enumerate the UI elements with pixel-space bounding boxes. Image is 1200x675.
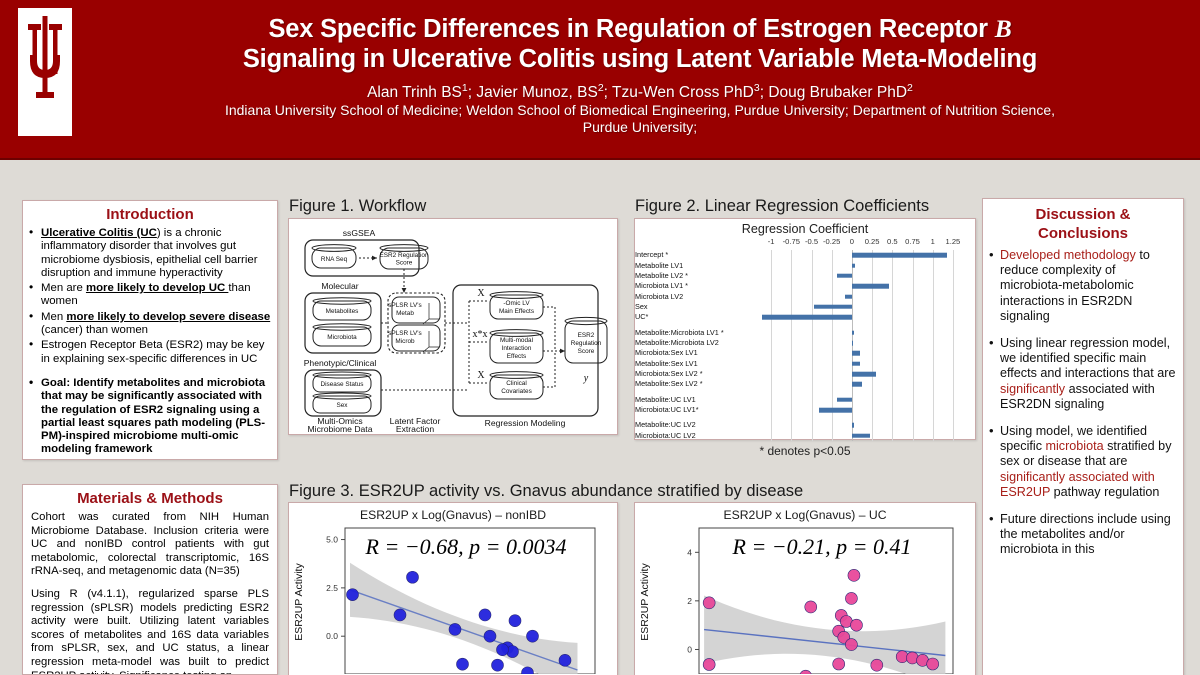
figure2-plot-area: Intercept *Metabolite LV1Metabolite LV2 …	[635, 250, 975, 441]
figure2-bar-row: Metabolite:UC LV1	[635, 394, 975, 404]
figure2-bar-label: Metabolite:Microbiota LV2	[635, 339, 719, 347]
figure2-bar	[837, 274, 852, 279]
figure2-bar-row: Metabolite:Microbiota LV1 *	[635, 327, 975, 337]
scatter-ytick: 0.0	[326, 631, 338, 641]
scatter-point	[407, 571, 419, 583]
svg-text:Covariates: Covariates	[501, 388, 532, 395]
scatter-point	[833, 658, 845, 670]
figure2-bar	[845, 294, 851, 299]
svg-text:Score: Score	[396, 260, 413, 267]
intro-spacer	[39, 368, 271, 375]
scatter-ylabel: ESR2UP Activity	[293, 563, 305, 641]
label-y: y	[583, 373, 589, 384]
introduction-panel: Introduction Ulcerative Colitis (UC) is …	[22, 200, 278, 460]
svg-text:sPLSR LV's: sPLSR LV's	[388, 330, 421, 337]
scatter-point	[703, 597, 715, 609]
svg-text:Multi-modal: Multi-modal	[500, 337, 533, 344]
svg-text:Metabolites: Metabolites	[326, 308, 359, 315]
figure2-bar-label: Intercept *	[635, 251, 668, 259]
figure2-bar-row: Metabolite:Sex LV1	[635, 358, 975, 368]
figure2-bar-label: Metabolite LV2 *	[635, 272, 688, 280]
scatter-ytick: 2	[687, 596, 692, 606]
scatter-plot-uc: ESR2UP Activity420R = −0.21, p = 0.41	[635, 522, 969, 674]
svg-text:Microb: Microb	[395, 338, 415, 345]
figure2-bar-label: Metabolite:Sex LV2 *	[635, 380, 703, 388]
discussion-text-segment: significantly	[1000, 382, 1065, 396]
figure2-bar	[814, 305, 852, 310]
figure2-xtick: -1	[768, 237, 775, 246]
figure2-bar-label: Metabolite:UC LV1	[635, 396, 696, 404]
scatter-title-nonibd: ESR2UP x Log(Gnavus) – nonIBD	[289, 508, 617, 522]
affiliation-line1: Indiana University School of Medicine; W…	[90, 102, 1190, 119]
discussion-text-segment: Future directions include using the meta…	[1000, 512, 1171, 556]
figure2-xtick: -0.25	[823, 237, 840, 246]
scatter-wrap-uc: ESR2UP Activity420R = −0.21, p = 0.41	[635, 522, 975, 675]
figure3-panel-uc: ESR2UP x Log(Gnavus) – UC ESR2UP Activit…	[634, 502, 976, 675]
scatter-point	[347, 589, 359, 601]
scatter-annotation: R = −0.68, p = 0.0034	[365, 534, 567, 559]
svg-text:Microbiota: Microbiota	[327, 334, 357, 341]
scatter-plot-nonibd: ESR2UP Activity5.02.50.0-2.5R = −0.68, p…	[289, 522, 611, 674]
scatter-ytick: 2.5	[326, 583, 338, 593]
figure3-caption: Figure 3. ESR2UP activity vs. Gnavus abu…	[289, 482, 803, 501]
affiliation-line2: Purdue University;	[90, 119, 1190, 136]
figure2-bar	[852, 330, 854, 335]
scatter-point	[871, 659, 883, 671]
scatter-point	[449, 623, 461, 635]
figure2-bar-row: Microbiota:UC LV1*	[635, 405, 975, 415]
figure2-x-axis: -1-0.75-0.5-0.2500.250.50.7511.25	[635, 237, 975, 250]
scatter-point	[845, 639, 857, 651]
svg-text:Extraction: Extraction	[396, 424, 434, 432]
figure2-bar-row: Microbiota:Sex LV1	[635, 348, 975, 358]
scatter-point	[527, 630, 539, 642]
poster-header: Sex Specific Differences in Regulation o…	[0, 0, 1200, 160]
figure2-panel: Regression Coefficient -1-0.75-0.5-0.250…	[634, 218, 976, 440]
scatter-point	[457, 658, 469, 670]
svg-text:Metab: Metab	[396, 310, 414, 317]
scatter-point	[559, 654, 571, 666]
scatter-point	[848, 569, 860, 581]
scatter-title-uc: ESR2UP x Log(Gnavus) – UC	[635, 508, 975, 522]
figure2-xtick: 0.75	[905, 237, 920, 246]
figure2-bar-label: Microbiota:UC LV1*	[635, 406, 699, 414]
intro-bullet-2: Men are more likely to develop UC than w…	[39, 282, 271, 309]
poster-title-line1: Sex Specific Differences in Regulation o…	[90, 14, 1190, 44]
scatter-point	[509, 615, 521, 627]
figure2-bar-label: Microbiota:Sex LV2 *	[635, 370, 703, 378]
trident-icon	[24, 8, 66, 114]
figure2-bar	[852, 361, 860, 366]
figure2-bar-label: Microbiota LV1 *	[635, 282, 688, 290]
discussion-bullet: Using linear regression model, we identi…	[1000, 336, 1177, 412]
discussion-heading-line2: Conclusions	[983, 225, 1183, 243]
svg-text:Regulation: Regulation	[571, 340, 602, 347]
figure2-significance-note: * denotes p<0.05	[635, 444, 975, 458]
discussion-bullet-list: Developed methodology to reduce complexi…	[983, 246, 1183, 558]
introduction-bullet-list: Ulcerative Colitis (UC) is a chronic inf…	[23, 227, 277, 457]
figure2-bar-label: Metabolite:Microbiota LV1 *	[635, 329, 724, 337]
scatter-wrap-nonibd: ESR2UP Activity5.02.50.0-2.5R = −0.68, p…	[289, 522, 617, 675]
workflow-diagram: ssGSEA RNA Seq ESR2 Regulation Score Mol…	[293, 223, 615, 432]
figure1-caption: Figure 1. Workflow	[289, 197, 426, 216]
figure2-bar-row: Microbiota LV1 *	[635, 281, 975, 291]
figure2-bar-row: Metabolite:Sex LV2 *	[635, 379, 975, 389]
label-ssgsea: ssGSEA	[343, 228, 376, 238]
scatter-point	[805, 601, 817, 613]
intro-bullet-4: Estrogen Receptor Beta (ESR2) may be key…	[39, 339, 271, 366]
scatter-point	[703, 658, 715, 670]
figure2-bar-row: UC*	[635, 312, 975, 322]
footer-regression: Regression Modeling	[485, 418, 566, 428]
discussion-bullet: Future directions include using the meta…	[1000, 512, 1177, 558]
iu-logo	[18, 8, 72, 136]
svg-text:Interaction: Interaction	[502, 345, 532, 352]
label-molecular: Molecular	[321, 281, 358, 291]
introduction-heading: Introduction	[23, 206, 277, 224]
figure2-bar	[852, 284, 889, 289]
label-x-interaction: x*x	[473, 329, 488, 340]
scatter-point	[850, 619, 862, 631]
svg-text:RNA Seq: RNA Seq	[321, 256, 348, 263]
intro-bullet-goal: Goal: Identify metabolites and microbiot…	[39, 377, 271, 457]
figure2-xtick: 1	[931, 237, 935, 246]
figure2-bar-row: Microbiota LV2	[635, 291, 975, 301]
figure2-bar-label: Metabolite LV1	[635, 262, 683, 270]
figure2-xtick: -0.5	[805, 237, 818, 246]
scatter-ytick: 5.0	[326, 535, 338, 545]
figure2-bar	[852, 372, 876, 377]
figure3-panel-nonibd: ESR2UP x Log(Gnavus) – nonIBD ESR2UP Act…	[288, 502, 618, 675]
discussion-text-segment: pathway regulation	[1050, 485, 1159, 499]
poster-root: Sex Specific Differences in Regulation o…	[0, 0, 1200, 675]
figure1-panel: ssGSEA RNA Seq ESR2 Regulation Score Mol…	[288, 218, 618, 435]
figure2-bar-row: Metabolite:UC LV2	[635, 420, 975, 430]
label-x-main: X	[477, 288, 485, 299]
discussion-text-segment: microbiota	[1046, 439, 1104, 453]
scatter-ylabel: ESR2UP Activity	[639, 563, 651, 641]
scatter-point	[497, 644, 509, 656]
figure2-bar-label: Microbiota:UC LV2	[635, 432, 696, 440]
figure2-bar	[852, 382, 862, 387]
svg-text:Sex: Sex	[336, 402, 348, 409]
svg-text:Main Effects: Main Effects	[499, 308, 534, 315]
figure2-xtick: 0	[850, 237, 854, 246]
scatter-point	[927, 658, 939, 670]
figure2-bar	[852, 253, 947, 258]
figure2-bar	[819, 408, 852, 413]
figure2-bar-label: Metabolite:UC LV2	[635, 421, 696, 429]
scatter-annotation: R = −0.21, p = 0.41	[732, 534, 912, 559]
figure2-bar-label: Sex	[635, 303, 648, 311]
discussion-text-segment: Developed methodology	[1000, 248, 1139, 262]
figure2-bar-label: Metabolite:Sex LV1	[635, 360, 698, 368]
svg-text:Microbiome Data: Microbiome Data	[308, 424, 373, 432]
figure2-bar-row: Microbiota:UC LV2	[635, 431, 975, 441]
figure2-bar	[852, 433, 871, 438]
discussion-panel: Discussion & Conclusions Developed metho…	[982, 198, 1184, 675]
svg-text:ESR2 Regulation: ESR2 Regulation	[379, 252, 428, 259]
intro-bullet-3: Men more likely to develop severe diseas…	[39, 311, 271, 338]
author-list: Alan Trinh BS1; Javier Munoz, BS2; Tzu-W…	[90, 79, 1190, 102]
beta-symbol: B	[995, 14, 1012, 43]
svg-text:Clinical: Clinical	[506, 380, 527, 387]
discussion-bullet: Using model, we identified specific micr…	[1000, 424, 1177, 500]
scatter-ytick: 0	[687, 644, 692, 654]
materials-paragraph-2: Using R (v4.1.1), regularized sparse PLS…	[31, 588, 269, 675]
figure2-bar-row: Intercept *	[635, 250, 975, 260]
svg-text:ESR2: ESR2	[578, 332, 595, 339]
figure2-xtick: 0.25	[865, 237, 880, 246]
figure2-xtick: 1.25	[946, 237, 961, 246]
figure2-bar	[852, 341, 853, 346]
figure2-bar	[837, 397, 852, 402]
scatter-point	[394, 609, 406, 621]
label-phenotypic: Phenotypic/Clinical	[304, 358, 377, 368]
figure2-bar-row: Microbiota:Sex LV2 *	[635, 369, 975, 379]
figure2-bar	[852, 423, 854, 428]
scatter-ytick: 4	[687, 547, 692, 557]
discussion-text-segment: Using linear regression model, we identi…	[1000, 336, 1176, 380]
intro-bullet-1: Ulcerative Colitis (UC) is a chronic inf…	[39, 227, 271, 280]
svg-text:-Omic LV: -Omic LV	[503, 300, 530, 307]
scatter-point	[845, 592, 857, 604]
figure2-bar-row: Metabolite LV1	[635, 260, 975, 270]
figure2-bar-label: Microbiota LV2	[635, 293, 683, 301]
svg-text:Score: Score	[578, 348, 595, 355]
figure2-caption: Figure 2. Linear Regression Coefficients	[635, 197, 929, 216]
scatter-point	[492, 659, 504, 671]
poster-title-line2: Signaling in Ulcerative Colitis using La…	[90, 44, 1190, 74]
discussion-heading-line1: Discussion &	[983, 206, 1183, 224]
figure2-bar-label: Microbiota:Sex LV1	[635, 349, 698, 357]
svg-text:Effects: Effects	[507, 353, 526, 360]
title-block: Sex Specific Differences in Regulation o…	[90, 14, 1190, 136]
discussion-bullet: Developed methodology to reduce complexi…	[1000, 248, 1177, 324]
figure2-chart-title: Regression Coefficient	[635, 222, 975, 236]
materials-heading: Materials & Methods	[23, 490, 277, 508]
figure2-bar-row: Metabolite:Microbiota LV2	[635, 338, 975, 348]
figure2-bar-row: Metabolite LV2 *	[635, 271, 975, 281]
materials-methods-panel: Materials & Methods Cohort was curated f…	[22, 484, 278, 675]
figure2-bar-label: UC*	[635, 313, 648, 321]
label-x-clinical: X	[477, 370, 485, 381]
scatter-point	[479, 609, 491, 621]
figure2-bar	[762, 315, 852, 320]
figure2-xtick: 0.5	[887, 237, 898, 246]
materials-paragraph-1: Cohort was curated from NIH Human Microb…	[31, 511, 269, 579]
scatter-point	[484, 630, 496, 642]
figure2-bar	[852, 351, 860, 356]
svg-text:sPLSR LV's: sPLSR LV's	[388, 302, 421, 309]
figure2-bar-row: Sex	[635, 302, 975, 312]
figure2-xtick: -0.75	[783, 237, 800, 246]
svg-text:Disease Status: Disease Status	[321, 381, 364, 388]
figure2-bar	[852, 263, 855, 268]
